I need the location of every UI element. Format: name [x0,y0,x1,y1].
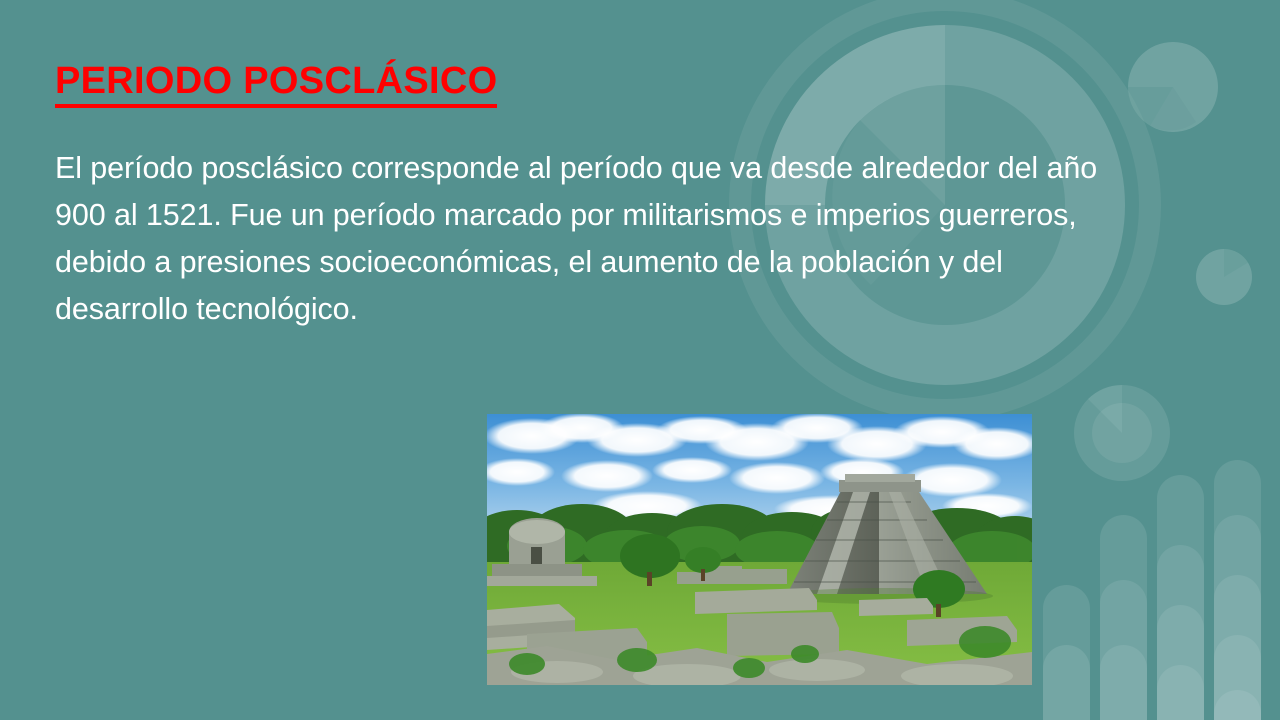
pie-circle-graphic [1128,42,1218,132]
slide-canvas: PERIODO POSCLÁSICO El período posclásico… [0,0,1280,720]
page-title: PERIODO POSCLÁSICO [55,58,497,104]
rounded-bars-graphic [1043,460,1261,720]
page-title-text: PERIODO POSCLÁSICO [55,60,497,102]
mayan-pyramid-ruins-photo [487,414,1032,685]
ring-wedge-graphic [1074,385,1170,481]
body-paragraph: El período posclásico corresponde al per… [55,145,1130,333]
pie-circle-small-graphic [1196,249,1252,305]
title-underline-rule [55,104,497,108]
